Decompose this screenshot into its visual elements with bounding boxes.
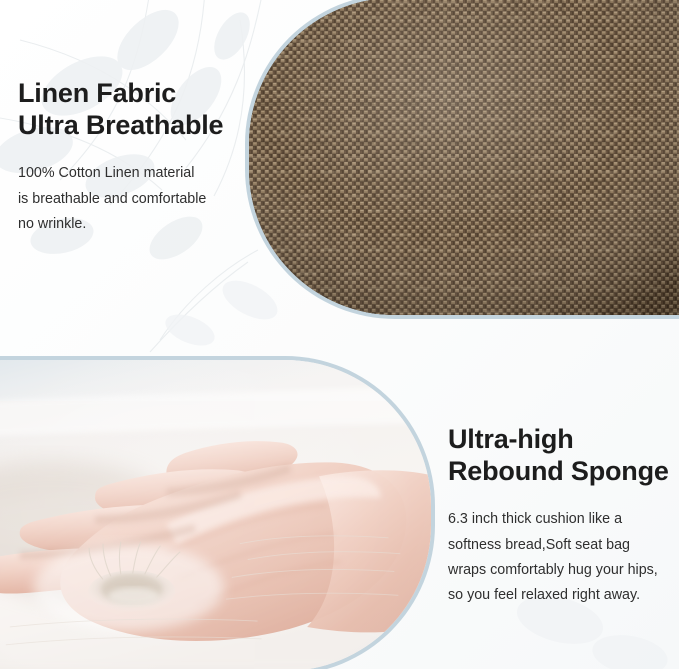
feature-headline-rebound-sponge: Ultra-high Rebound Sponge: [448, 424, 674, 487]
linen-fabric-image: [249, 0, 679, 315]
feature-copy-rebound-sponge: Ultra-high Rebound Sponge 6.3 inch thick…: [448, 424, 674, 609]
feature-body-rebound-sponge: 6.3 inch thick cushion like a softness b…: [448, 487, 674, 609]
product-feature-infographic: Linen Fabric Ultra Breathable 100% Cotto…: [0, 0, 679, 669]
feature-body-linen-fabric: 100% Cotton Linen material is breathable…: [18, 141, 243, 237]
feature-panel-rebound-sponge: [0, 356, 435, 669]
feature-copy-linen-fabric: Linen Fabric Ultra Breathable 100% Cotto…: [18, 78, 243, 237]
rebound-sponge-image: [0, 360, 431, 669]
feature-panel-linen-fabric: [245, 0, 679, 319]
feature-headline-linen-fabric: Linen Fabric Ultra Breathable: [18, 78, 243, 141]
